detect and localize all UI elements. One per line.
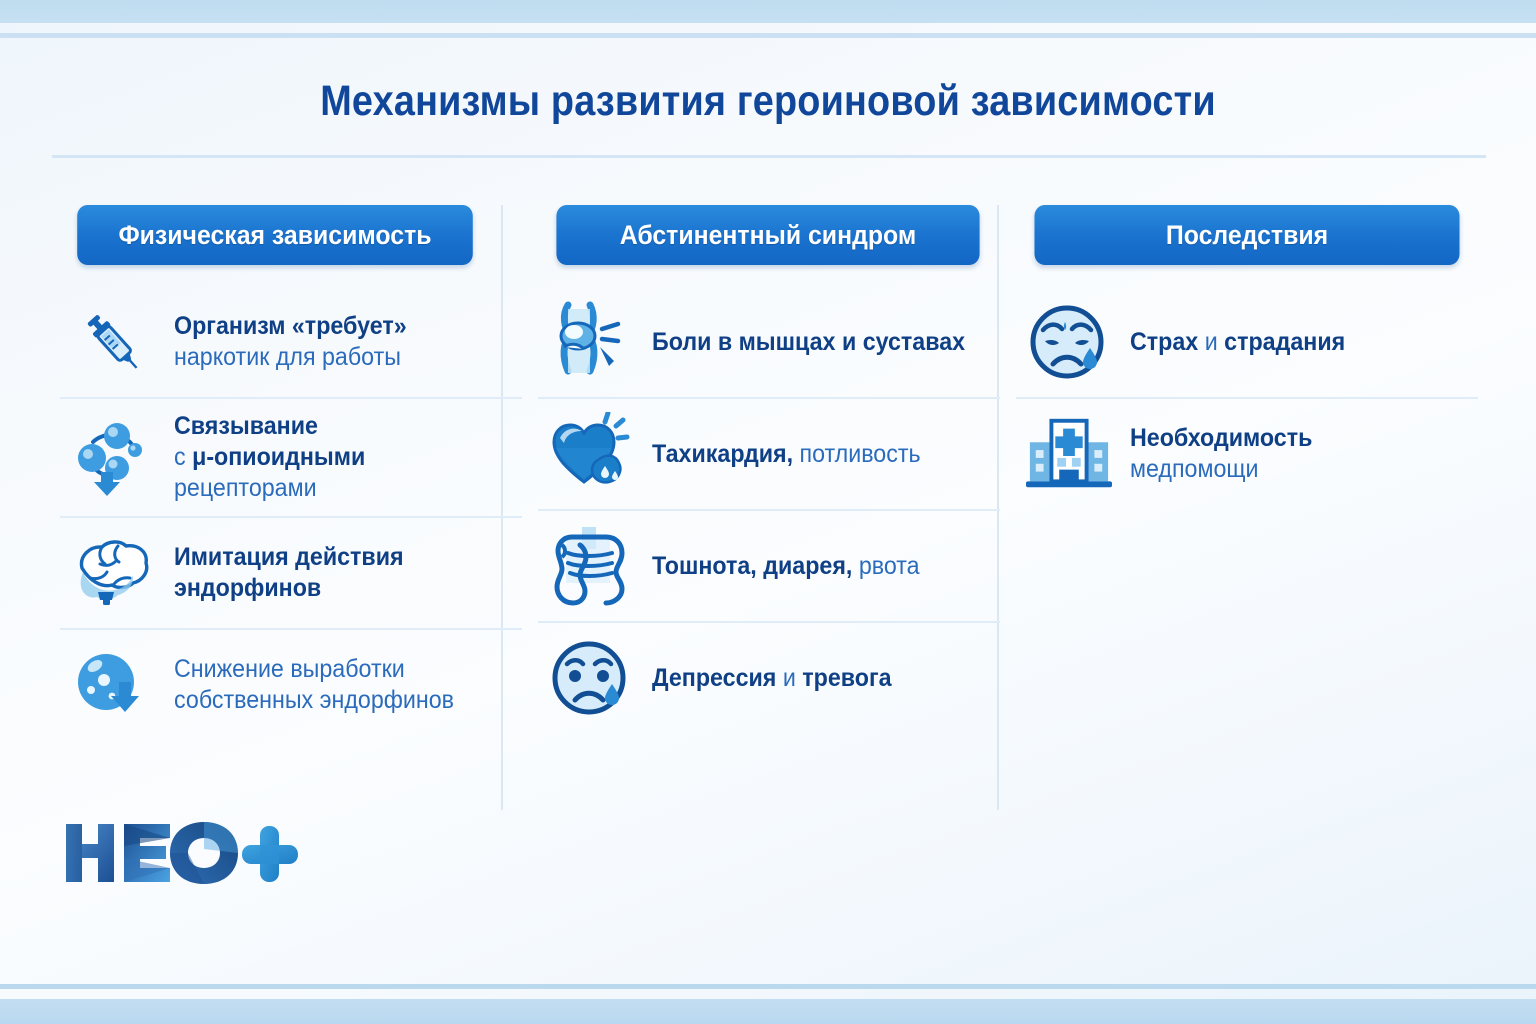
list-item[interactable]: Имитация действия эндорфинов <box>60 516 522 628</box>
item-text-bold-2: страдания <box>1224 328 1345 356</box>
hospital-icon <box>1026 411 1112 497</box>
item-line-3: рецепторами <box>174 474 317 502</box>
page-title: Механизмы развития героиновой зависимост… <box>92 76 1444 126</box>
item-text-regular: рвота <box>852 552 919 580</box>
list-item[interactable]: Необходимость медпомощи <box>1016 397 1478 509</box>
list-item-label: Необходимость медпомощи <box>1130 423 1312 485</box>
item-line-2: эндорфинов <box>174 574 321 602</box>
list-item-label: Боли в мышцах и суставах <box>652 327 965 358</box>
column-header-physical: Физическая зависимость <box>77 205 473 265</box>
item-text: Боли в мышцах и суставах <box>652 328 965 356</box>
item-text-bold: Тошнота, диарея, <box>652 552 852 580</box>
list-item[interactable]: Организм «требует» наркотик для работы <box>60 287 522 397</box>
item-line-1: Организм «требует» <box>174 312 407 340</box>
bottom-rule <box>0 984 1536 989</box>
column-withdrawal-syndrome: Абстинентный синдром <box>530 205 1008 810</box>
top-decorative-band <box>0 0 1536 23</box>
list-item[interactable]: Депрессия и тревога <box>538 621 1000 733</box>
item-text-light: и <box>776 664 802 692</box>
list-item-label: Депрессия и тревога <box>652 663 892 694</box>
list-item-label: Организм «требует» наркотик для работы <box>174 311 407 373</box>
top-rule <box>0 33 1536 38</box>
item-text-bold-2: тревога <box>802 664 891 692</box>
title-divider <box>52 155 1486 158</box>
item-text-light: и <box>1198 328 1224 356</box>
column-3-items: Страх и страдания <box>1016 287 1478 509</box>
list-item-label: Снижение выработки собственных эндорфино… <box>174 654 454 716</box>
brand-logo <box>62 818 302 888</box>
brain-icon <box>70 530 156 616</box>
list-item[interactable]: Тошнота, диарея, рвота <box>538 509 1000 621</box>
column-header-withdrawal: Абстинентный синдром <box>556 205 979 265</box>
sad-face-icon <box>548 635 634 721</box>
list-item-label: Связывание с μ-опиоидными рецепторами <box>174 411 365 504</box>
heart-sweat-icon <box>548 411 634 497</box>
column-header-consequences: Последствия <box>1034 205 1459 265</box>
item-line-1: Снижение выработки <box>174 655 405 683</box>
syringe-icon <box>70 299 156 385</box>
molecule-binding-icon <box>70 415 156 501</box>
list-item-label: Имитация действия эндорфинов <box>174 542 404 604</box>
endorphin-decrease-icon <box>70 642 156 728</box>
list-item-label: Тошнота, диарея, рвота <box>652 551 920 582</box>
item-line-2-prefix: с <box>174 443 192 471</box>
list-item[interactable]: Связывание с μ-опиоидными рецепторами <box>60 397 522 516</box>
list-item-label: Страх и страдания <box>1130 327 1345 358</box>
list-item[interactable]: Тахикардия, потливость <box>538 397 1000 509</box>
list-item[interactable]: Боли в мышцах и суставах <box>538 287 1000 397</box>
item-line-2: медпомощи <box>1130 455 1259 483</box>
intestine-icon <box>548 523 634 609</box>
column-consequences: Последствия <box>1008 205 1486 810</box>
item-line-2: собственных эндорфинов <box>174 686 454 714</box>
item-line-2: наркотик для работы <box>174 343 401 371</box>
bottom-decorative-band <box>0 999 1536 1024</box>
column-2-items: Боли в мышцах и суставах <box>538 287 1000 733</box>
item-text-bold: Страх <box>1130 328 1198 356</box>
item-line-1: Необходимость <box>1130 424 1312 452</box>
item-text-bold: Тахикардия, <box>652 440 793 468</box>
list-item[interactable]: Страх и страдания <box>1016 287 1478 397</box>
list-item-label: Тахикардия, потливость <box>652 439 921 470</box>
columns-container: Физическая зависимость <box>52 205 1486 810</box>
list-item[interactable]: Снижение выработки собственных эндорфино… <box>60 628 522 740</box>
item-line-1: Имитация действия <box>174 543 404 571</box>
item-line-1: Связывание <box>174 412 318 440</box>
crying-face-icon <box>1026 299 1112 385</box>
column-1-items: Организм «требует» наркотик для работы <box>60 287 522 740</box>
joint-pain-icon <box>548 299 634 385</box>
column-physical-dependence: Физическая зависимость <box>52 205 530 810</box>
item-text-regular: потливость <box>793 440 921 468</box>
item-text-bold: Депрессия <box>652 664 776 692</box>
infographic-canvas: Механизмы развития героиновой зависимост… <box>0 0 1536 1024</box>
item-line-2: μ-опиоидными <box>192 443 365 471</box>
